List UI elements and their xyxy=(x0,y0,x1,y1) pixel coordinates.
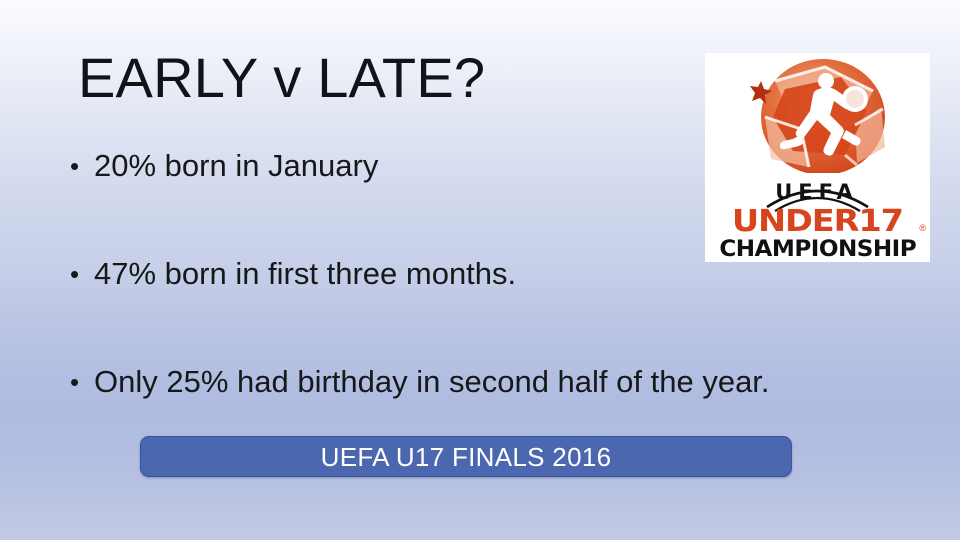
championship-wordmark: CHAMPIONSHIP xyxy=(705,237,930,262)
svg-text:UEFA: UEFA xyxy=(775,180,859,204)
list-item-label: 47% born in first three months. xyxy=(94,255,516,293)
slide-canvas: EARLY v LATE? • 20% born in January • 47… xyxy=(0,0,960,540)
footer-banner[interactable]: UEFA U17 FINALS 2016 xyxy=(140,436,792,477)
page-title: EARLY v LATE? xyxy=(78,46,485,110)
registered-trademark-icon: ® xyxy=(919,223,926,233)
under17-text: UNDER17 xyxy=(732,205,903,239)
list-item: • 47% born in first three months. xyxy=(70,255,710,293)
list-item-label: 20% born in January xyxy=(94,147,378,185)
under17-wordmark: UNDER17 xyxy=(705,205,930,239)
bullet-list: • 20% born in January • 47% born in firs… xyxy=(70,147,710,401)
bullet-point-icon: • xyxy=(70,255,94,293)
bullet-point-icon: • xyxy=(70,147,94,185)
footer-banner-label: UEFA U17 FINALS 2016 xyxy=(321,442,612,472)
championship-text: CHAMPIONSHIP xyxy=(719,237,916,262)
list-item: • Only 25% had birthday in second half o… xyxy=(70,363,710,401)
list-item-label: Only 25% had birthday in second half of … xyxy=(94,363,770,401)
uefa-under17-logo: UEFA UNDER17 ® CHAMPIONSHIP xyxy=(705,53,930,262)
list-item: • 20% born in January xyxy=(70,147,710,185)
soccer-ball-icon xyxy=(705,55,930,173)
bullet-point-icon: • xyxy=(70,363,94,401)
